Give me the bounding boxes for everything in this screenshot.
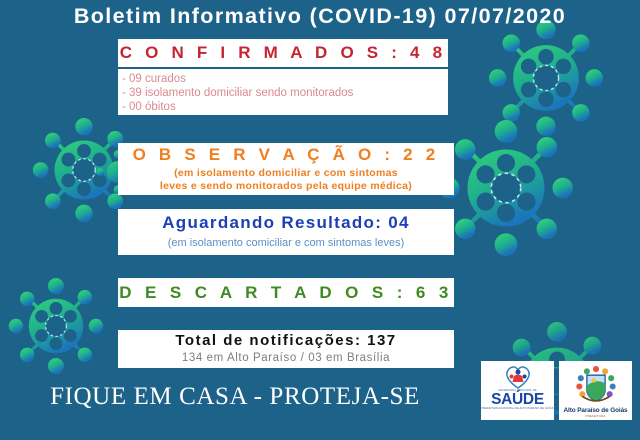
confirmed-label: C O N F I R M A D O S : 4 8	[118, 39, 448, 67]
slogan-text: FIQUE EM CASA - PROTEJA-SE	[0, 383, 470, 411]
observation-sub-line-1: (em isolamento domiciliar e com sintomas	[118, 167, 454, 180]
awaiting-result-sub: (em isolamento comiciliar e com sintomas…	[118, 236, 454, 251]
observation-label: O B S E R V A Ç Ã O : 2 2	[118, 143, 454, 167]
virus-icon-top-right	[488, 20, 604, 136]
brasao-logo: Alto Paraíso de Goiás PREFEITURA	[559, 361, 632, 420]
discarded-panel: D E S C A R T A D O S : 6 3	[118, 278, 454, 307]
confirmed-panel: C O N F I R M A D O S : 4 8	[118, 39, 448, 67]
saude-heart-people-icon	[503, 363, 533, 389]
total-notifications-panel: Total de notificações: 137 134 em Alto P…	[118, 330, 454, 368]
logo-group: SECRETARIA MUNICIPAL DE SAÚDE PREFEITURA…	[481, 361, 633, 420]
saude-logo: SECRETARIA MUNICIPAL DE SAÚDE PREFEITURA…	[481, 361, 554, 420]
saude-logo-word: SAÚDE	[491, 392, 544, 407]
bulletin-header: Boletim Informativo (COVID-19) 07/07/202…	[0, 4, 640, 29]
total-notifications-label: Total de notificações: 137	[118, 330, 454, 351]
confirmed-detail-deaths: - 00 óbitos	[122, 100, 444, 114]
total-notifications-breakdown: 134 em Alto Paraíso / 03 em Brasília	[118, 351, 454, 366]
brasao-municipality-name: Alto Paraíso de Goiás	[564, 407, 628, 414]
brasao-subtitle: PREFEITURA	[585, 414, 605, 418]
virus-icon-right-middle	[438, 120, 574, 256]
confirmed-detail-isolation: - 39 isolamento domiciliar sendo monitor…	[122, 86, 444, 100]
saude-logo-foot-text: PREFEITURA MUNICIPAL DE ALTO PARAÍSO DE …	[481, 407, 553, 410]
awaiting-result-panel: Aguardando Resultado: 04 (em isolamento …	[118, 209, 454, 255]
discarded-label: D E S C A R T A D O S : 6 3	[118, 278, 454, 307]
awaiting-result-label: Aguardando Resultado: 04	[118, 209, 454, 236]
confirmed-detail-panel: - 09 curados - 39 isolamento domiciliar …	[118, 69, 448, 115]
observation-sub-line-2: leves e sendo monitorados pela equipe mé…	[118, 180, 454, 193]
virus-icon-bottom-left	[8, 278, 104, 374]
page-title: Boletim Informativo (COVID-19) 07/07/202…	[0, 4, 640, 29]
saude-logo-top-text: SECRETARIA MUNICIPAL DE	[498, 389, 537, 392]
confirmed-detail-cured: - 09 curados	[122, 72, 444, 86]
coat-of-arms-icon	[573, 363, 619, 407]
observation-panel: O B S E R V A Ç Ã O : 2 2 (em isolamento…	[118, 143, 454, 195]
